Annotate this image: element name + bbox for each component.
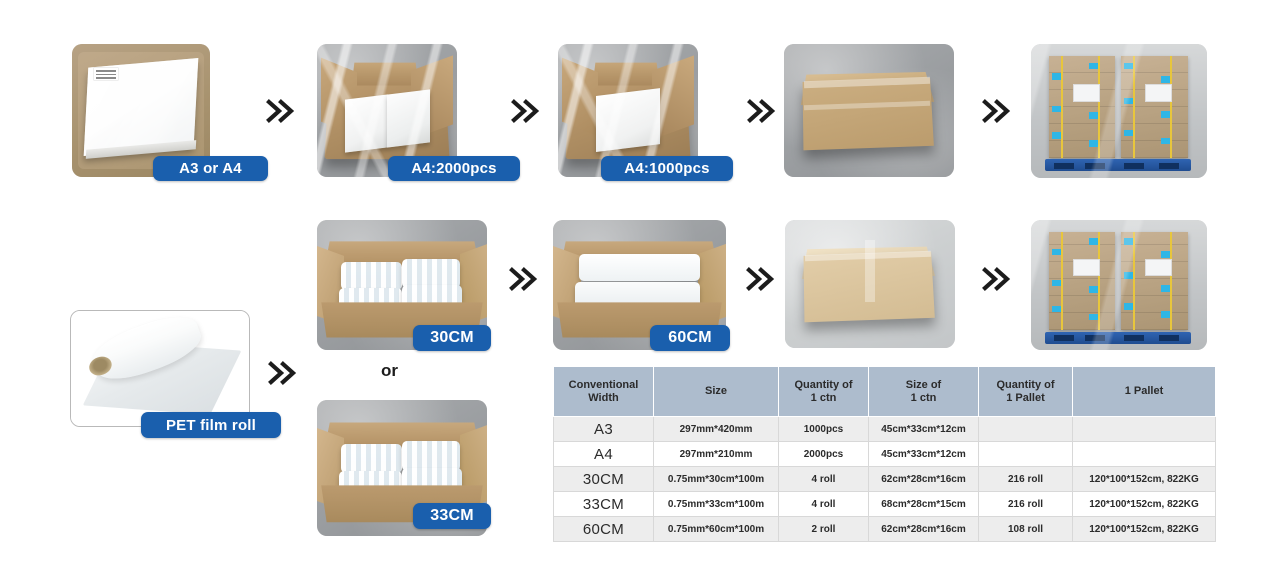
- arrow-roll-3-to-4: [744, 262, 778, 296]
- cell-qty-pallet: 216 roll: [979, 467, 1073, 492]
- badge-30cm: 30CM: [413, 325, 491, 351]
- cell-qty-pallet: [979, 442, 1073, 467]
- badge-60cm: 60CM: [650, 325, 730, 351]
- sealed-carton-photo: [784, 44, 954, 177]
- cell-width: 33CM: [554, 492, 654, 517]
- wrapped-pallets-photo-2: [1031, 220, 1207, 350]
- table-row: 33CM 0.75mm*33cm*100m 4 roll 68cm*28cm*1…: [554, 492, 1216, 517]
- flow-step-sheet-5: [1031, 44, 1207, 178]
- pet-film-roll-photo: [71, 311, 249, 426]
- table-row: 60CM 0.75mm*60cm*100m 2 roll 62cm*28cm*1…: [554, 517, 1216, 542]
- flow-step-roll-1: [70, 310, 250, 427]
- header-line: Size of: [906, 379, 941, 391]
- cell-qty-ctn: 2000pcs: [779, 442, 869, 467]
- table-row: A3 297mm*420mm 1000pcs 45cm*33cm*12cm: [554, 417, 1216, 442]
- cell-size-ctn: 62cm*28cm*16cm: [869, 467, 979, 492]
- cell-pallet: [1073, 417, 1216, 442]
- cell-width: A3: [554, 417, 654, 442]
- cell-size-ctn: 45cm*33cm*12cm: [869, 442, 979, 467]
- header-line: 1 ctn: [811, 392, 837, 404]
- arrow-sheet-2-to-3: [509, 94, 543, 128]
- header-1-pallet: 1 Pallet: [1073, 367, 1216, 417]
- cell-pallet: 120*100*152cm, 822KG: [1073, 492, 1216, 517]
- header-line: 1 Pallet: [1006, 392, 1045, 404]
- cell-qty-pallet: [979, 417, 1073, 442]
- or-label: or: [381, 361, 398, 381]
- cell-qty-pallet: 108 roll: [979, 517, 1073, 542]
- header-line: Conventional: [569, 379, 639, 391]
- cell-width: 30CM: [554, 467, 654, 492]
- badge-a3-or-a4: A3 or A4: [153, 156, 268, 181]
- cell-pallet: 120*100*152cm, 822KG: [1073, 467, 1216, 492]
- header-quantity-of-1-pallet: Quantity of 1 Pallet: [979, 367, 1073, 417]
- cell-size: 297mm*420mm: [654, 417, 779, 442]
- cell-qty-ctn: 2 roll: [779, 517, 869, 542]
- arrow-sheet-4-to-5: [980, 94, 1014, 128]
- header-size-of-1-ctn: Size of 1 ctn: [869, 367, 979, 417]
- header-quantity-of-1-ctn: Quantity of 1 ctn: [779, 367, 869, 417]
- cell-width: A4: [554, 442, 654, 467]
- cell-pallet: [1073, 442, 1216, 467]
- cell-pallet: 120*100*152cm, 822KG: [1073, 517, 1216, 542]
- cell-size: 0.75mm*33cm*100m: [654, 492, 779, 517]
- header-line: 1 ctn: [911, 392, 937, 404]
- table-header-row: Conventional Width Size Quantity of 1 ct…: [554, 367, 1216, 417]
- arrow-sheet-1-to-2: [264, 94, 298, 128]
- flow-step-sheet-4: [784, 44, 954, 177]
- flow-step-roll-5: [785, 220, 955, 348]
- header-line: 1 Pallet: [1125, 385, 1164, 397]
- badge-a4-1000pcs: A4:1000pcs: [601, 156, 733, 181]
- sealed-light-carton-photo: [785, 220, 955, 348]
- header-size: Size: [654, 367, 779, 417]
- badge-33cm: 33CM: [413, 503, 491, 529]
- table-row: 30CM 0.75mm*30cm*100m 4 roll 62cm*28cm*1…: [554, 467, 1216, 492]
- cell-size-ctn: 68cm*28cm*15cm: [869, 492, 979, 517]
- cell-qty-ctn: 4 roll: [779, 492, 869, 517]
- arrow-roll-2-to-3: [507, 262, 541, 296]
- header-line: Size: [705, 385, 727, 397]
- header-line: Width: [588, 392, 618, 404]
- cell-width: 60CM: [554, 517, 654, 542]
- badge-pet-film-roll: PET film roll: [141, 412, 281, 438]
- cell-qty-pallet: 216 roll: [979, 492, 1073, 517]
- cell-size-ctn: 62cm*28cm*16cm: [869, 517, 979, 542]
- cell-size: 297mm*210mm: [654, 442, 779, 467]
- header-line: Quantity of: [996, 379, 1054, 391]
- header-conventional-width: Conventional Width: [554, 367, 654, 417]
- cell-qty-ctn: 1000pcs: [779, 417, 869, 442]
- header-line: Quantity of: [794, 379, 852, 391]
- flow-step-roll-6: [1031, 220, 1207, 350]
- cell-qty-ctn: 4 roll: [779, 467, 869, 492]
- cell-size-ctn: 45cm*33cm*12cm: [869, 417, 979, 442]
- cell-size: 0.75mm*30cm*100m: [654, 467, 779, 492]
- table-row: A4 297mm*210mm 2000pcs 45cm*33cm*12cm: [554, 442, 1216, 467]
- badge-a4-2000pcs: A4:2000pcs: [388, 156, 520, 181]
- cell-size: 0.75mm*60cm*100m: [654, 517, 779, 542]
- arrow-roll-4-to-5: [980, 262, 1014, 296]
- wrapped-pallets-photo: [1031, 44, 1207, 178]
- spec-table: Conventional Width Size Quantity of 1 ct…: [553, 366, 1216, 542]
- arrow-roll-1-to-2: [266, 356, 300, 390]
- arrow-sheet-3-to-4: [745, 94, 779, 128]
